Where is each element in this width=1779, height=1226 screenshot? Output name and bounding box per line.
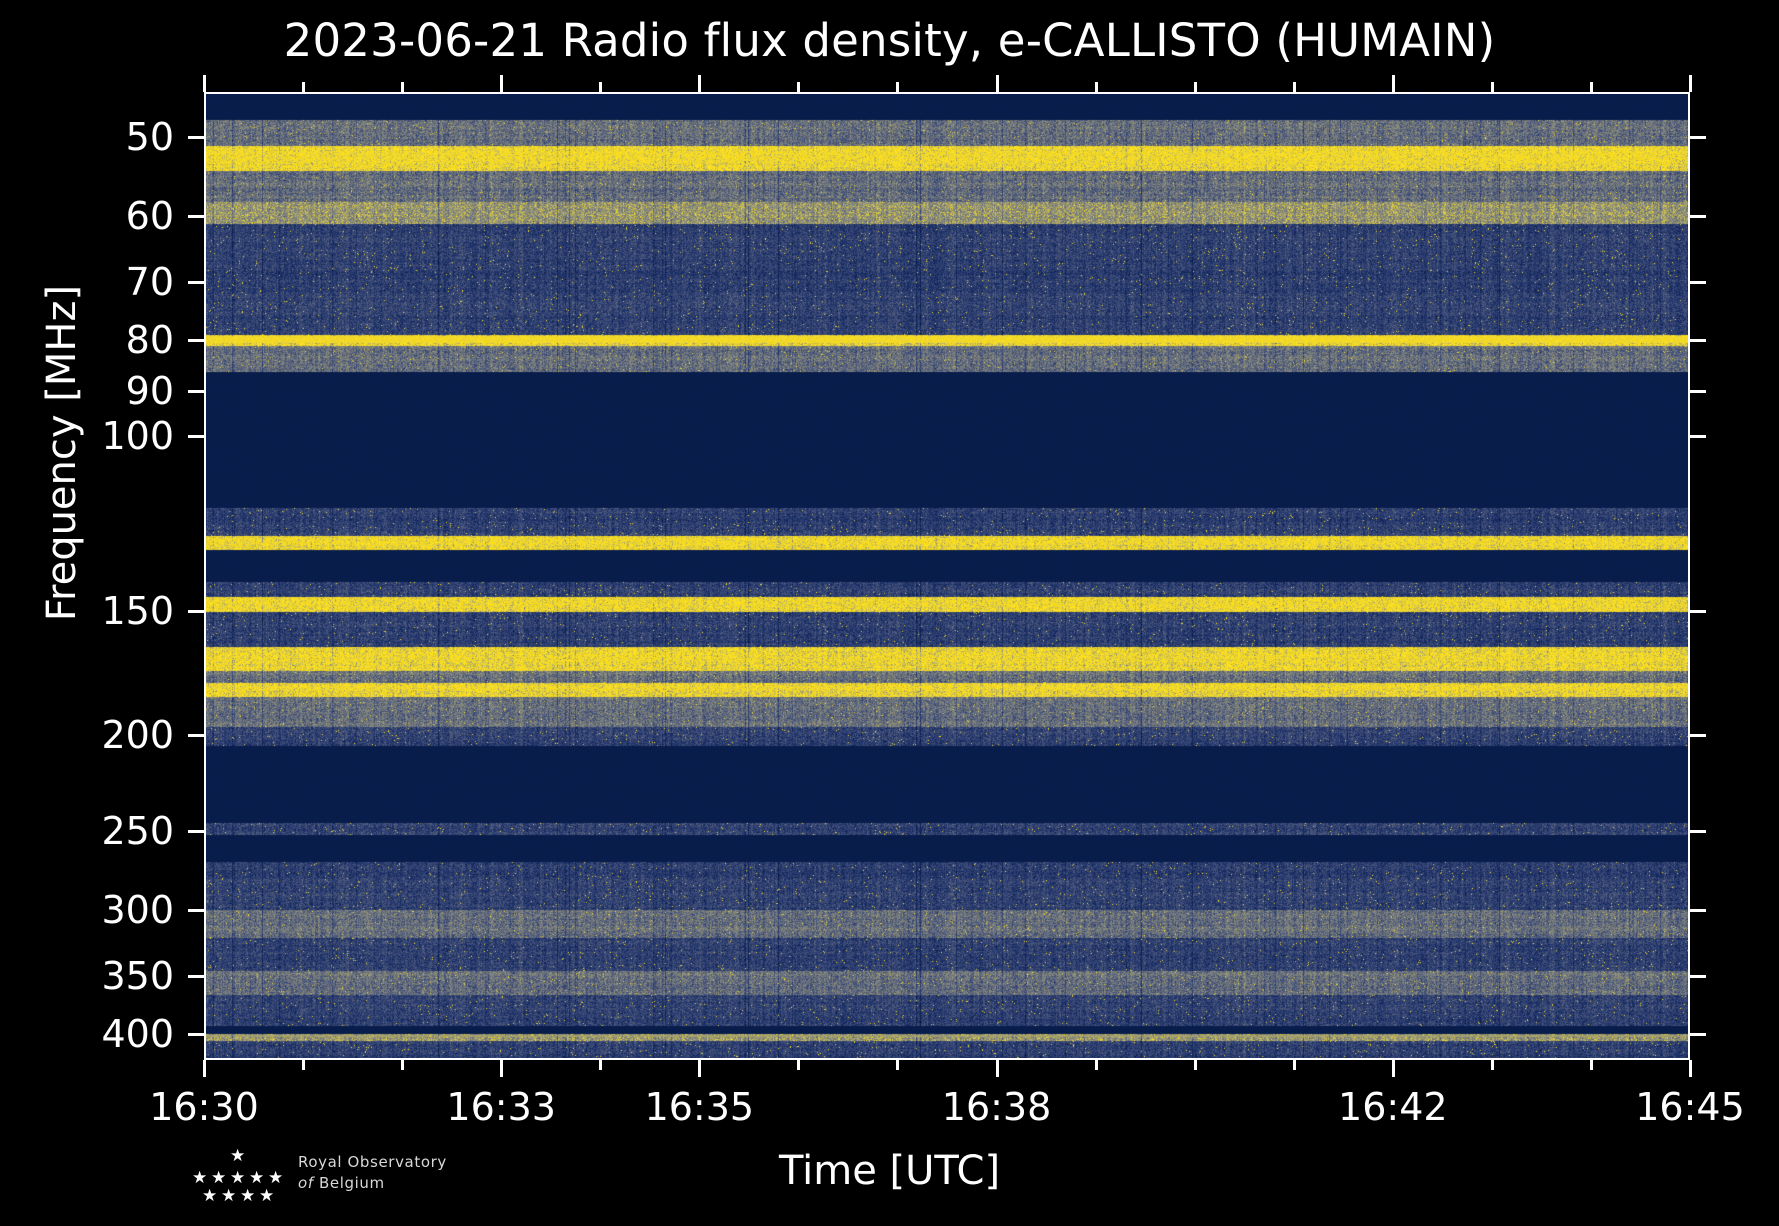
x-tick-minor bbox=[302, 1060, 305, 1070]
x-tick-minor bbox=[599, 1060, 602, 1070]
x-tick-minor bbox=[1293, 1060, 1296, 1070]
x-tick-label: 16:30 bbox=[149, 1088, 259, 1126]
y-tick-mark-right bbox=[1690, 390, 1706, 393]
star-icon: ★ bbox=[240, 1188, 255, 1205]
y-tick-mark-right bbox=[1690, 281, 1706, 284]
spectrogram-plot-area bbox=[204, 92, 1690, 1060]
y-tick-label: 350 bbox=[0, 957, 174, 995]
y-tick-label: 100 bbox=[0, 417, 174, 455]
star-icon: ★ bbox=[259, 1188, 274, 1205]
page-title: 2023-06-21 Radio flux density, e-CALLIST… bbox=[0, 14, 1779, 67]
y-tick-label: 60 bbox=[0, 197, 174, 235]
y-tick-mark-right bbox=[1690, 610, 1706, 613]
x-tick-minor-top bbox=[302, 82, 305, 92]
y-tick-label: 400 bbox=[0, 1015, 174, 1053]
x-tick-mark bbox=[698, 1060, 701, 1077]
y-tick-label: 70 bbox=[0, 263, 174, 301]
y-tick-mark bbox=[188, 136, 204, 139]
y-tick-mark-right bbox=[1690, 975, 1706, 978]
y-tick-label: 90 bbox=[0, 372, 174, 410]
logo-belgium: Belgium bbox=[319, 1174, 385, 1192]
star-icon: ★ bbox=[230, 1148, 245, 1165]
y-tick-mark bbox=[188, 1033, 204, 1036]
x-tick-mark bbox=[996, 1060, 999, 1077]
x-tick-mark-top bbox=[1689, 75, 1692, 92]
x-tick-mark-top bbox=[996, 75, 999, 92]
y-tick-mark bbox=[188, 909, 204, 912]
x-tick-mark-top bbox=[698, 75, 701, 92]
y-tick-mark bbox=[188, 215, 204, 218]
x-tick-minor-top bbox=[1590, 82, 1593, 92]
x-tick-minor bbox=[1194, 1060, 1197, 1070]
y-tick-mark-right bbox=[1690, 734, 1706, 737]
star-icon: ★ bbox=[230, 1170, 245, 1187]
y-axis-label: Frequency [MHz] bbox=[39, 273, 85, 633]
y-tick-mark-right bbox=[1690, 909, 1706, 912]
logo-line-1: Royal Observatory bbox=[298, 1152, 447, 1173]
y-tick-mark bbox=[188, 734, 204, 737]
x-tick-minor bbox=[1590, 1060, 1593, 1070]
x-tick-minor-top bbox=[797, 82, 800, 92]
y-tick-mark bbox=[188, 339, 204, 342]
y-tick-mark-right bbox=[1690, 215, 1706, 218]
stars-icon: ★★★★★★★★★★ bbox=[178, 1148, 288, 1206]
star-icon: ★ bbox=[211, 1170, 226, 1187]
x-tick-label: 16:33 bbox=[446, 1088, 556, 1126]
x-tick-minor bbox=[896, 1060, 899, 1070]
x-tick-minor-top bbox=[896, 82, 899, 92]
y-tick-mark-right bbox=[1690, 830, 1706, 833]
y-tick-mark bbox=[188, 281, 204, 284]
y-tick-label: 80 bbox=[0, 321, 174, 359]
y-tick-mark bbox=[188, 435, 204, 438]
x-tick-minor bbox=[1491, 1060, 1494, 1070]
x-tick-minor-top bbox=[1095, 82, 1098, 92]
x-tick-mark-top bbox=[1392, 75, 1395, 92]
y-tick-mark-right bbox=[1690, 435, 1706, 438]
y-tick-mark bbox=[188, 830, 204, 833]
x-tick-mark bbox=[1689, 1060, 1692, 1077]
y-tick-label: 150 bbox=[0, 592, 174, 630]
y-tick-label: 300 bbox=[0, 891, 174, 929]
star-icon: ★ bbox=[202, 1188, 217, 1205]
x-tick-mark bbox=[500, 1060, 503, 1077]
y-tick-mark-right bbox=[1690, 1033, 1706, 1036]
spectrogram-image bbox=[204, 92, 1690, 1060]
x-tick-mark-top bbox=[500, 75, 503, 92]
x-tick-label: 16:45 bbox=[1635, 1088, 1745, 1126]
x-tick-mark bbox=[1392, 1060, 1395, 1077]
royal-observatory-logo: ★★★★★★★★★★ Royal Observatory of Belgium bbox=[178, 1148, 598, 1212]
x-tick-minor-top bbox=[1491, 82, 1494, 92]
x-tick-label: 16:38 bbox=[942, 1088, 1052, 1126]
logo-line-2: of Belgium bbox=[298, 1173, 447, 1194]
x-tick-minor-top bbox=[1293, 82, 1296, 92]
y-tick-mark bbox=[188, 975, 204, 978]
star-icon: ★ bbox=[249, 1170, 264, 1187]
x-tick-minor bbox=[401, 1060, 404, 1070]
x-tick-minor-top bbox=[599, 82, 602, 92]
y-tick-label: 50 bbox=[0, 118, 174, 156]
x-tick-minor-top bbox=[401, 82, 404, 92]
y-tick-mark-right bbox=[1690, 339, 1706, 342]
x-tick-minor-top bbox=[1194, 82, 1197, 92]
logo-text: Royal Observatory of Belgium bbox=[298, 1152, 447, 1194]
x-tick-minor bbox=[1095, 1060, 1098, 1070]
y-tick-mark bbox=[188, 390, 204, 393]
y-tick-label: 250 bbox=[0, 812, 174, 850]
x-tick-label: 16:42 bbox=[1338, 1088, 1448, 1126]
star-icon: ★ bbox=[221, 1188, 236, 1205]
y-tick-label: 200 bbox=[0, 716, 174, 754]
logo-of: of bbox=[298, 1174, 314, 1192]
x-tick-mark bbox=[203, 1060, 206, 1077]
x-tick-minor bbox=[797, 1060, 800, 1070]
x-tick-mark-top bbox=[203, 75, 206, 92]
spectrogram-figure: 2023-06-21 Radio flux density, e-CALLIST… bbox=[0, 0, 1779, 1226]
x-tick-label: 16:35 bbox=[645, 1088, 755, 1126]
y-tick-mark bbox=[188, 610, 204, 613]
star-icon: ★ bbox=[192, 1170, 207, 1187]
star-icon: ★ bbox=[268, 1170, 283, 1187]
y-tick-mark-right bbox=[1690, 136, 1706, 139]
